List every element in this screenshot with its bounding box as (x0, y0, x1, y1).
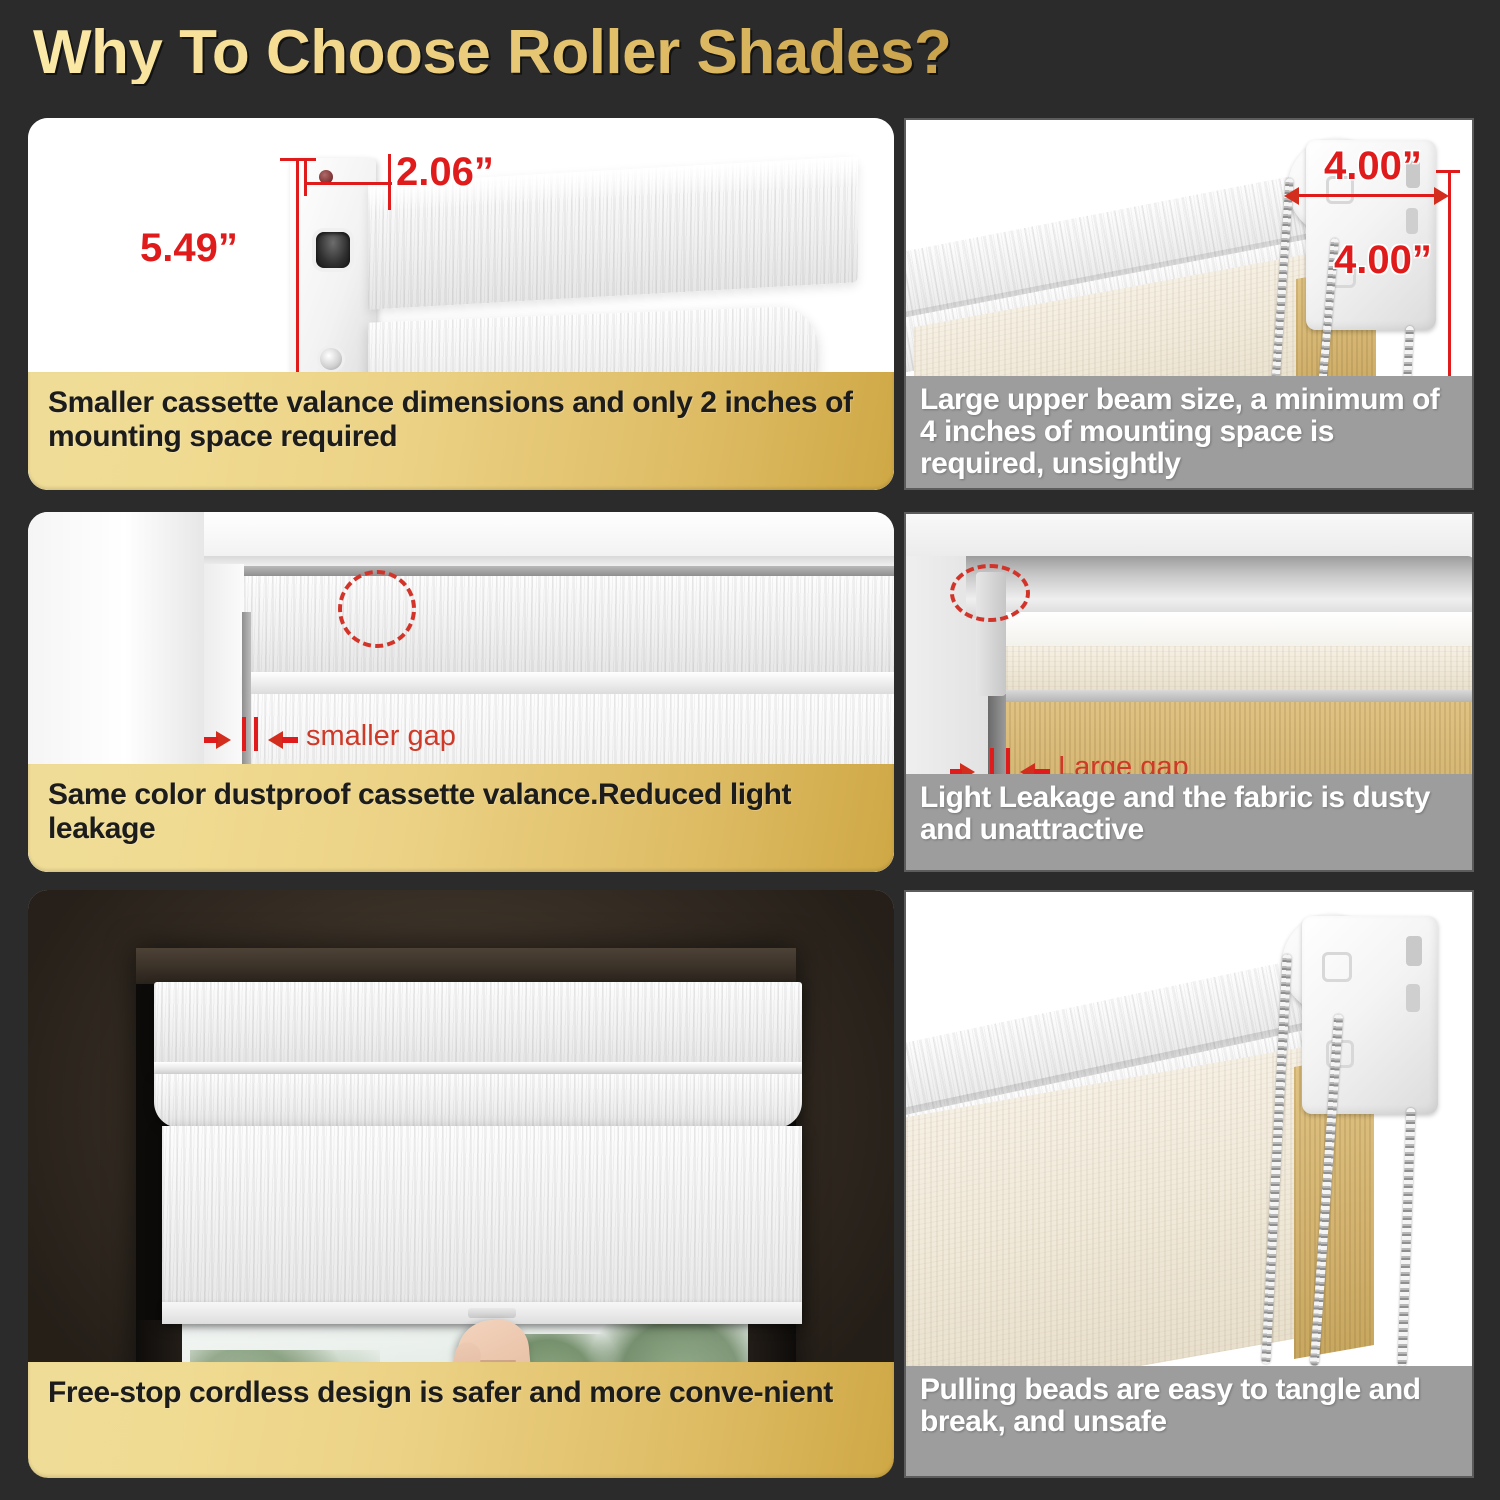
beam-height-dim-line (1448, 170, 1451, 382)
fabric-band-white (982, 612, 1472, 650)
window-frame-inner-edge (204, 556, 894, 566)
shade-pull-tab (468, 1308, 516, 1318)
bead-bracket-slot-top (1406, 936, 1422, 966)
beam-width-arrow-right (1434, 187, 1449, 205)
panel-6-pulling-beads: Pulling beads are easy to tangle and bre… (904, 890, 1474, 1478)
panel-5-caption-bar: Free-stop cordless design is safer and m… (28, 1362, 894, 1478)
panel-4-caption-text: Light Leakage and the fabric is dusty an… (920, 782, 1458, 846)
leak-highlight-circle (950, 564, 1030, 622)
beam-width-arrow-left (1284, 187, 1299, 205)
bead-bracket-hook-upper (1322, 952, 1352, 982)
window-recess-top-ledge (136, 948, 796, 984)
beam-height-label: 4.00” (1334, 238, 1432, 283)
height-dim-label: 5.49” (140, 226, 238, 271)
panel-4-caption-bar: Light Leakage and the fabric is dusty an… (906, 774, 1472, 870)
panel-2-large-beam: 4.00” 4.00” Large upper beam size, a min… (904, 118, 1474, 490)
cassette-screw-lower (320, 348, 342, 370)
panel-2-caption-text: Large upper beam size, a minimum of 4 in… (920, 384, 1458, 479)
panel-1-caption-text: Smaller cassette valance dimensions and … (48, 386, 874, 453)
roller-tube-top (966, 556, 1472, 618)
window-shade-fabric (162, 1126, 802, 1318)
width-dim-tick-right (388, 154, 391, 210)
panel-5-cordless-design: Free-stop cordless design is safer and m… (28, 890, 894, 1478)
height-dim-cap-top (280, 158, 316, 161)
gap-highlight-circle (338, 570, 416, 648)
smaller-gap-arrow-left-stem (204, 737, 218, 743)
window-valance-cassette (154, 982, 802, 1068)
fabric-band-cream (988, 646, 1472, 692)
beam-height-cap-top (1436, 170, 1460, 173)
panel-6-caption-bar: Pulling beads are easy to tangle and bre… (906, 1366, 1472, 1476)
width-dim-line (304, 182, 392, 185)
smaller-gap-label: smaller gap (306, 720, 456, 753)
valance-cassette-roll (154, 1074, 802, 1128)
smaller-gap-mark-1 (242, 717, 246, 751)
beam-width-dim-line (1288, 194, 1446, 197)
valance-lower-lip (244, 672, 894, 694)
page-title: Why To Choose Roller Shades? (33, 22, 951, 84)
beam-width-label: 4.00” (1324, 144, 1422, 189)
panel-3-caption-bar: Same color dustproof cassette valance.Re… (28, 764, 894, 872)
panel-1-caption-bar: Smaller cassette valance dimensions and … (28, 372, 894, 490)
smaller-gap-arrow-right (268, 731, 283, 749)
width-dim-label: 2.06” (396, 150, 494, 195)
cassette-clutch-slot (316, 232, 350, 268)
panel-3-caption-text: Same color dustproof cassette valance.Re… (48, 778, 874, 845)
fabric-bottom-rail (988, 690, 1472, 702)
infographic-page: Why To Choose Roller Shades? 2.06” (0, 0, 1500, 1500)
bracket-slot-mid (1406, 208, 1418, 234)
smaller-gap-mark-2 (254, 717, 258, 751)
smaller-gap-arrow-right-stem (282, 737, 298, 743)
cassette-head-rail (244, 566, 894, 576)
smaller-gap-arrow-left (216, 731, 231, 749)
bead-bracket-slot-mid (1406, 984, 1420, 1012)
pull-bead-chain-right (1398, 1108, 1416, 1366)
panel-1-smaller-cassette: 2.06” 5.49” Smaller cassette valance dim… (28, 118, 894, 490)
panel-2-caption-bar: Large upper beam size, a minimum of 4 in… (906, 376, 1472, 488)
panel-5-caption-text: Free-stop cordless design is safer and m… (48, 1376, 833, 1410)
panel-6-caption-text: Pulling beads are easy to tangle and bre… (920, 1374, 1458, 1438)
width-dim-tick-left (304, 160, 307, 196)
valance-cassette-lip (154, 1062, 802, 1074)
ceiling-band (906, 514, 1472, 556)
panel-3-dustproof-valance: smaller gap Same color dustproof cassett… (28, 512, 894, 872)
panel-4-light-leakage: Large gap Light Leakage and the fabric i… (904, 512, 1474, 872)
